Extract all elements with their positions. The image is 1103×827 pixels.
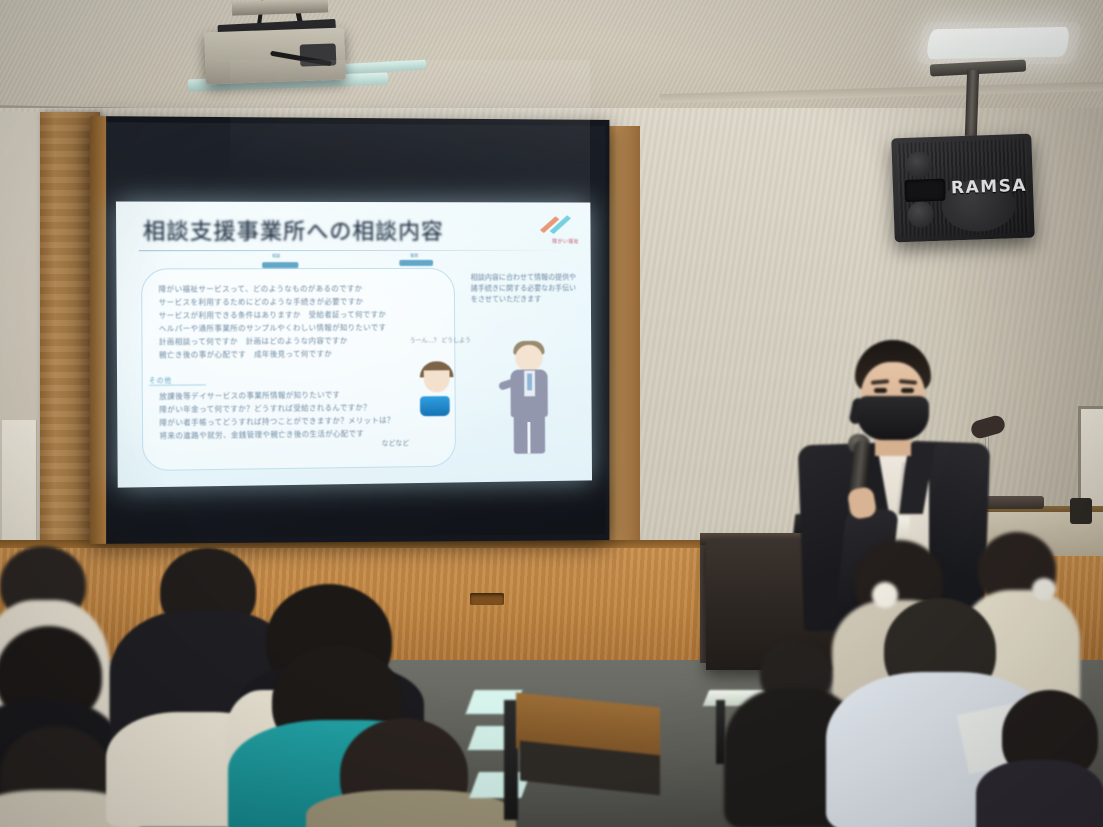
presenter-eye-left [874,388,887,393]
ceiling-light-icon [925,27,1070,59]
audience-hair-clip-icon [1032,578,1056,600]
slide-blue-object-icon [420,396,450,416]
slide-title: 相談支援事業所への相談内容 [143,214,444,246]
slide-body-line: 計画相談って何ですか 計画はどのような内容ですか [159,335,348,347]
slide-body-line: ヘルパーや通所事業所のサンプルやくわしい情報が知りたいです [159,322,387,334]
audience-hair-clip-icon [872,582,898,608]
slide-body-line: 放課後等デイサービスの事業所情報が知りたいです [159,389,340,402]
illustration-head [515,345,543,372]
slide-tag-left-marker [262,262,298,268]
slide-tag-right-label: 質問 [410,253,418,259]
wainscot-notch [470,593,504,605]
illustration-leg-gap [527,422,530,454]
slide-body-line: 親亡き後の事が心配です 成年後見って何ですか [159,348,332,360]
wall-small-object [1070,498,1092,524]
illustration-tie [527,373,532,390]
organization-logo-caption: 障がい福祉 [552,238,579,245]
slide-scribble-text: うーん…？ どうしよう [410,337,471,345]
speaker-tweeter-icon [906,151,933,178]
slide-body-line: 将来の進路や就労、金銭管理や親亡き後の生活が心配です [159,428,364,442]
screen-frame-left [90,116,106,544]
projection-screen: 相談支援事業所への相談内容 障がい福祉 相談 質問 障がい福祉サービスって、どの… [90,116,610,544]
slide-section-label: その他 [149,375,172,385]
slide-staff-illustration-icon [499,341,562,458]
slide-tag-left-label: 相談 [272,253,280,259]
slide-etc-label: などなど [382,438,410,448]
slide-content-bubble: 相談 質問 障がい福祉サービスって、どのようなものがあるのですか サービスを利用… [141,268,456,471]
presentation-slide: 相談支援事業所への相談内容 障がい福祉 相談 質問 障がい福祉サービスって、どの… [116,201,592,487]
slide-right-note: 相談内容に合わせて情報の提供や諸手続きに関する必要なお手伝いをさせていただきます [471,272,579,305]
presenter-face-mask-icon [857,396,929,440]
speaker-stem [965,70,979,136]
presenter-eye-right [901,388,914,393]
wall-speaker-icon: RAMSA [891,134,1035,243]
slide-worried-face-icon [420,361,454,393]
speaker-tweeter-icon [907,201,934,228]
slide-body-line: 障がい福祉サービスって、どのようなものがあるのですか [159,283,363,295]
slide-body-line: 障がい年金って何ですか？どうすれば受給されるんですか？ [159,402,371,415]
lecture-room-photo: RAMSA 相談支援事業所への相談内容 障がい福祉 相談 質問 障がい福祉サービ… [0,0,1103,827]
slide-body-line: サービスを利用するためにどのような手続きが必要ですか [159,296,364,308]
slide-tag-right-marker [399,260,433,266]
slide-body-line: サービスが利用できる条件はありますか 受給者証って何ですか [159,309,387,321]
speaker-port [905,179,946,202]
speaker-brand-label: RAMSA [951,176,1028,199]
cabinet-object [986,496,1044,509]
organization-logo-icon [536,210,577,240]
audience-body [976,760,1103,827]
slide-body-line: 障がい者手帳ってどうすれば持つことができますか？メリットは？ [159,415,394,429]
face-skin [424,370,450,392]
